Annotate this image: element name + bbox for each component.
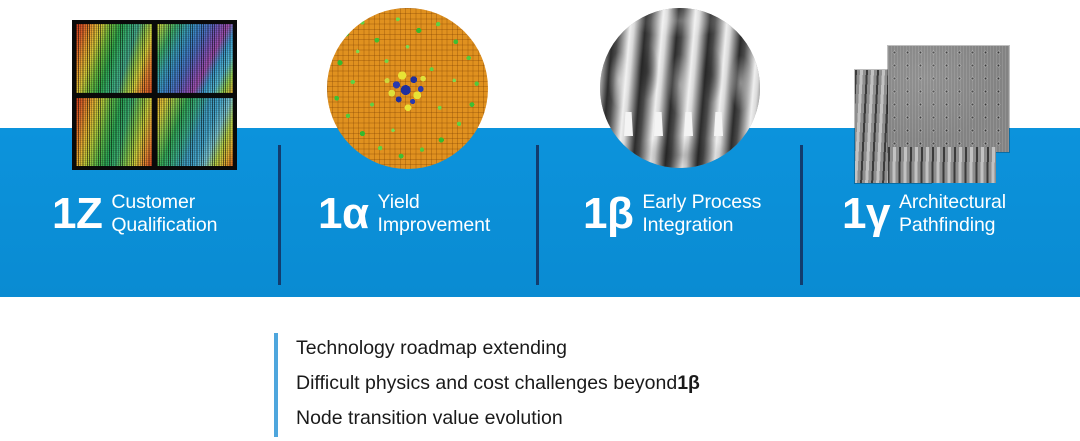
die-quadrant-top-left	[76, 24, 152, 93]
die-quadrant-bottom-left	[76, 98, 152, 167]
node-label-1beta: 1β Early Process Integration	[583, 189, 761, 237]
node-code-1beta: 1β	[583, 192, 633, 236]
node-desc-line1: Customer	[111, 191, 195, 213]
bullet-list: Technology roadmap extending Difficult p…	[274, 331, 874, 436]
column-divider-1	[278, 145, 281, 285]
tem-cross-section-image	[600, 8, 760, 168]
node-code-1gamma: 1γ	[842, 192, 890, 236]
node-desc-line2: Improvement	[378, 214, 491, 237]
slide-canvas: 1Z Customer Qualification 1α Yield Impro…	[0, 0, 1080, 441]
tem-plug	[714, 112, 723, 136]
die-quadrant-top-right	[157, 24, 233, 93]
sem-line-pattern-lower	[888, 147, 996, 183]
sem-pattern-pair-image	[855, 46, 1030, 183]
node-desc-1alpha: Yield Improvement	[378, 189, 491, 237]
list-item: Node transition value evolution	[296, 401, 874, 436]
die-scanline-overlay	[76, 98, 152, 167]
column-divider-2	[536, 145, 539, 285]
die-scanline-overlay	[157, 98, 233, 167]
bullet-bold-suffix: 1β	[677, 374, 700, 394]
list-item: Difficult physics and cost challenges be…	[296, 366, 874, 401]
die-scanline-overlay	[76, 24, 152, 93]
node-desc-line2: Integration	[642, 214, 761, 237]
node-desc-line1: Yield	[378, 191, 420, 213]
tem-plug-row	[600, 8, 760, 168]
node-code-1z: 1Z	[52, 192, 102, 236]
wafer-yield-map-image	[327, 8, 488, 169]
node-desc-line2: Qualification	[111, 214, 217, 237]
die-scanline-overlay	[157, 24, 233, 93]
sem-grain-overlay	[888, 46, 1009, 152]
column-divider-3	[800, 145, 803, 285]
node-label-1alpha: 1α Yield Improvement	[318, 189, 490, 237]
node-desc-1beta: Early Process Integration	[642, 189, 761, 237]
rainbow-die-grid-image	[72, 20, 237, 170]
node-label-1gamma: 1γ Architectural Pathfinding	[842, 189, 1006, 237]
node-desc-line1: Early Process	[642, 191, 761, 213]
list-item: Technology roadmap extending	[296, 331, 874, 366]
bullet-block: Technology roadmap extending Difficult p…	[274, 331, 874, 436]
tem-plug	[684, 112, 693, 136]
bullet-text: Difficult physics and cost challenges be…	[296, 374, 677, 394]
bullet-text: Technology roadmap extending	[296, 339, 567, 359]
bullet-accent-bar	[274, 333, 278, 437]
tem-plug	[624, 112, 633, 136]
die-quadrant-bottom-right	[157, 98, 233, 167]
wafer-center-defect-cluster	[379, 63, 437, 115]
node-desc-line2: Pathfinding	[899, 214, 1006, 237]
node-label-1z: 1Z Customer Qualification	[52, 189, 217, 237]
bullet-text: Node transition value evolution	[296, 409, 563, 429]
node-desc-1gamma: Architectural Pathfinding	[899, 189, 1006, 237]
node-code-1alpha: 1α	[318, 192, 369, 236]
tem-plug	[654, 112, 663, 136]
sem-hole-array-image	[888, 46, 1009, 152]
node-desc-line1: Architectural	[899, 191, 1006, 213]
node-desc-1z: Customer Qualification	[111, 189, 217, 237]
